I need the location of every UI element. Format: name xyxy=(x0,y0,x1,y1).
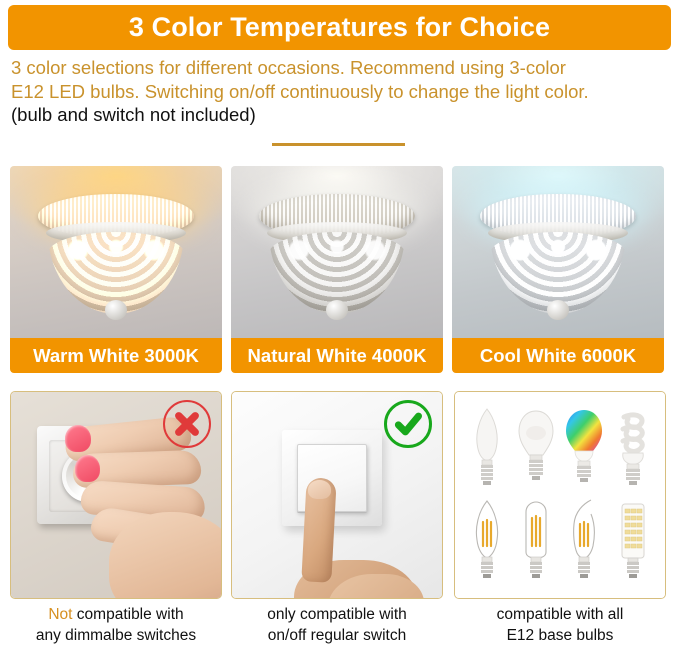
color-temperature-label-cool: Cool White 6000K xyxy=(452,338,664,373)
check-icon xyxy=(384,400,432,448)
caption-line-2: on/off regular switch xyxy=(231,625,443,646)
section-divider xyxy=(272,143,405,146)
painted-fingernail xyxy=(65,425,91,452)
compatibility-captions: Not compatible with any dimmalbe switche… xyxy=(10,604,671,650)
filament-candle-bulb-icon xyxy=(464,496,510,588)
subtitle-block: 3 color selections for different occasio… xyxy=(11,56,671,127)
page-title: 3 Color Temperatures for Choice xyxy=(129,12,550,43)
caption-dimmer: Not compatible with any dimmalbe switche… xyxy=(10,604,222,646)
color-temperature-label-natural: Natural White 4000K xyxy=(231,338,443,373)
crystal-ceiling-lamp-icon xyxy=(253,188,421,316)
ceiling-light-photo-natural xyxy=(231,166,443,338)
color-temperature-card-warm: Warm White 3000K xyxy=(10,166,222,373)
spiral-cfl-bulb-icon xyxy=(610,403,656,495)
color-temperature-label-text: Cool White 6000K xyxy=(480,345,636,367)
flame-tip-filament-bulb-icon xyxy=(561,496,607,588)
corn-led-bulb-icon xyxy=(610,496,656,588)
color-temperature-card-natural: Natural White 4000K xyxy=(231,166,443,373)
hand-pressing-switch xyxy=(288,478,424,599)
caption-rest: compatible with all xyxy=(454,604,666,625)
color-temperature-card-cool: Cool White 6000K xyxy=(452,166,664,373)
painted-fingernail xyxy=(75,455,100,482)
compatibility-card-dimmer xyxy=(10,391,222,599)
rgb-color-bulb-icon xyxy=(561,403,607,495)
subtitle-line-2: E12 LED bulbs. Switching on/off continuo… xyxy=(11,80,671,104)
color-temperature-label-text: Warm White 3000K xyxy=(33,345,199,367)
caption-rest: only compatible with xyxy=(231,604,443,625)
subtitle-line-3: (bulb and switch not included) xyxy=(11,103,671,127)
compatibility-card-bulbs xyxy=(454,391,666,599)
rocker-switch-photo xyxy=(232,392,442,598)
color-temperature-label-text: Natural White 4000K xyxy=(248,345,427,367)
caption-bulbs: compatible with all E12 base bulbs xyxy=(454,604,666,646)
cross-icon xyxy=(163,400,211,448)
caption-line-2: any dimmalbe switches xyxy=(10,625,222,646)
color-temperature-label-warm: Warm White 3000K xyxy=(10,338,222,373)
caption-highlight: Not xyxy=(48,606,72,623)
compatibility-gallery xyxy=(10,391,671,599)
dimmer-switch-photo xyxy=(11,392,221,598)
e12-bulb-chart xyxy=(455,392,665,598)
header-banner: 3 Color Temperatures for Choice xyxy=(8,5,671,50)
caption-rocker: only compatible with on/off regular swit… xyxy=(231,604,443,646)
ceiling-light-photo-warm xyxy=(10,166,222,338)
ceiling-light-photo-cool xyxy=(452,166,664,338)
infographic-root: 3 Color Temperatures for Choice 3 color … xyxy=(0,0,679,653)
filament-tube-bulb-icon xyxy=(513,496,559,588)
globe-bulb-icon xyxy=(513,403,559,495)
crystal-ceiling-lamp-icon xyxy=(32,188,200,316)
caption-rest: compatible with xyxy=(72,606,183,623)
color-temperature-gallery: Warm White 3000K Natural White 4000K xyxy=(10,166,671,373)
caption-line-2: E12 base bulbs xyxy=(454,625,666,646)
crystal-ceiling-lamp-icon xyxy=(474,188,642,316)
compatibility-card-rocker xyxy=(231,391,443,599)
subtitle-line-1: 3 color selections for different occasio… xyxy=(11,56,671,80)
candle-bulb-icon xyxy=(464,403,510,495)
